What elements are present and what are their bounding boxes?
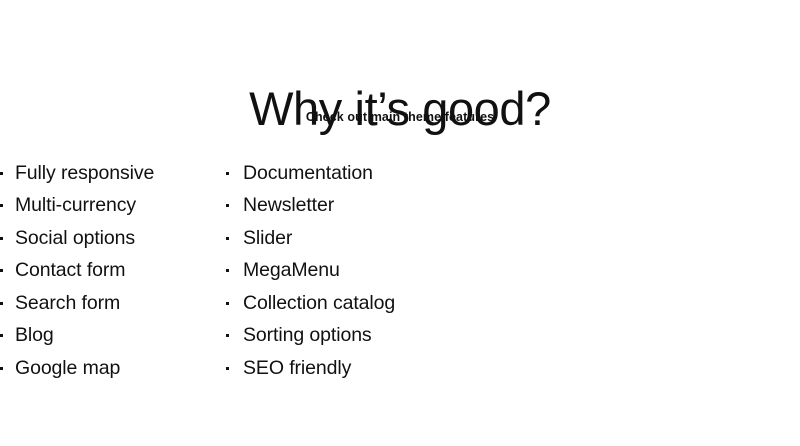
- feature-label: Documentation: [243, 164, 373, 184]
- page-subtitle: Check out main theme features: [0, 110, 800, 125]
- list-item: Search form: [0, 287, 226, 320]
- bullet-dot-icon: [0, 204, 3, 207]
- feature-label: Social options: [15, 229, 135, 249]
- list-item: MegaMenu: [226, 255, 486, 288]
- bullet-dot-icon: [226, 172, 229, 175]
- list-item: Blog: [0, 320, 226, 353]
- feature-label: Slider: [243, 229, 292, 249]
- bullet-dot-icon: [226, 334, 229, 337]
- bullet-dot-icon: [0, 172, 3, 175]
- feature-label: SEO friendly: [243, 359, 351, 379]
- feature-slide: Why it’s good? Check out main theme feat…: [0, 0, 800, 446]
- feature-label: Collection catalog: [243, 294, 395, 314]
- bullet-dot-icon: [0, 334, 3, 337]
- bullet-dot-icon: [226, 367, 229, 370]
- feature-label: Blog: [15, 326, 54, 346]
- bullet-dot-icon: [0, 367, 3, 370]
- list-item: Sorting options: [226, 320, 486, 353]
- bullet-dot-icon: [226, 237, 229, 240]
- feature-list-right: Documentation Newsletter Slider MegaMenu…: [226, 157, 486, 385]
- list-item: Slider: [226, 222, 486, 255]
- feature-label: Contact form: [15, 261, 125, 281]
- feature-label: Search form: [15, 294, 120, 314]
- bullet-dot-icon: [0, 269, 3, 272]
- list-item: Newsletter: [226, 190, 486, 223]
- bullet-dot-icon: [226, 204, 229, 207]
- list-item: Collection catalog: [226, 287, 486, 320]
- feature-label: Newsletter: [243, 196, 334, 216]
- list-item: Social options: [0, 222, 226, 255]
- bullet-dot-icon: [226, 269, 229, 272]
- bullet-dot-icon: [0, 237, 3, 240]
- list-item: Documentation: [226, 157, 486, 190]
- feature-label: Multi-currency: [15, 196, 136, 216]
- list-item: Multi-currency: [0, 190, 226, 223]
- feature-label: Fully responsive: [15, 164, 154, 184]
- feature-list-left: Fully responsive Multi-currency Social o…: [0, 157, 226, 385]
- feature-lists: Fully responsive Multi-currency Social o…: [0, 157, 800, 385]
- list-item: Google map: [0, 352, 226, 385]
- list-item: Fully responsive: [0, 157, 226, 190]
- feature-label: Sorting options: [243, 326, 372, 346]
- feature-label: Google map: [15, 359, 120, 379]
- list-item: Contact form: [0, 255, 226, 288]
- bullet-dot-icon: [0, 302, 3, 305]
- feature-label: MegaMenu: [243, 261, 340, 281]
- list-item: SEO friendly: [226, 352, 486, 385]
- bullet-dot-icon: [226, 302, 229, 305]
